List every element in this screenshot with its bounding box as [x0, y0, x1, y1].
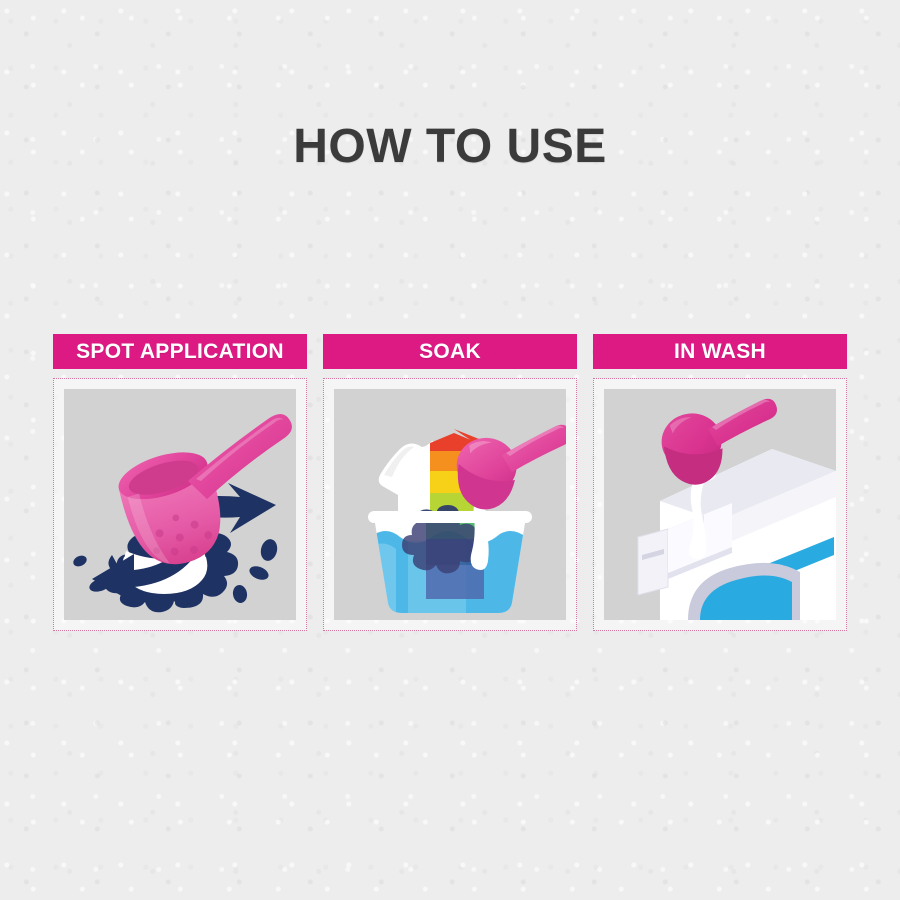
- page-title: HOW TO USE: [0, 119, 900, 174]
- soak-basin: [368, 511, 532, 620]
- scoop-handle: [188, 414, 292, 499]
- illustration-washing-machine-drawer: [604, 389, 836, 620]
- illustration-basin-soak: [334, 389, 566, 620]
- step-label-soak: SOAK: [323, 334, 577, 369]
- step-in-wash: IN WASH: [593, 334, 847, 631]
- step-label-in-wash: IN WASH: [593, 334, 847, 369]
- steps-row: SPOT APPLICATION: [53, 334, 847, 631]
- step-soak: SOAK: [323, 334, 577, 631]
- scoop-handle: [502, 425, 566, 472]
- step-frame-in-wash: [593, 378, 847, 631]
- scoop-handle: [708, 399, 777, 446]
- step-frame-soak: [323, 378, 577, 631]
- step-label-spot-application: SPOT APPLICATION: [53, 334, 307, 369]
- illustration-scoop-pouring-on-stain: [64, 389, 296, 620]
- step-frame-spot-application: [53, 378, 307, 631]
- how-to-use-infographic: HOW TO USE SPOT APPLICATION: [0, 0, 900, 900]
- step-spot-application: SPOT APPLICATION: [53, 334, 307, 631]
